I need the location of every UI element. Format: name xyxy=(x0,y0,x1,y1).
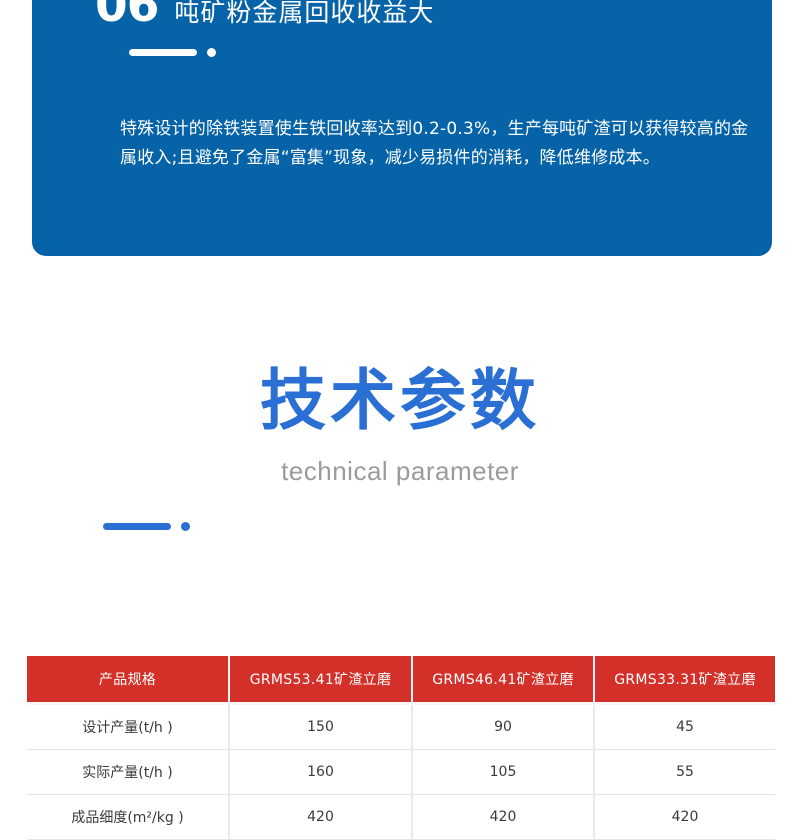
row-value: 420 xyxy=(412,795,594,840)
decoration-bar-icon xyxy=(129,49,197,56)
spec-table: 产品规格 GRMS53.41矿渣立磨 GRMS46.41矿渣立磨 GRMS33.… xyxy=(27,656,775,840)
section-heading: 技术参数 technical parameter xyxy=(0,368,800,487)
feature-divider-decoration xyxy=(129,48,216,57)
row-value: 45 xyxy=(594,704,775,750)
row-label: 设计产量(t/h ) xyxy=(27,704,229,750)
row-label: 成品细度(m²/kg ) xyxy=(27,795,229,840)
section-title-en: technical parameter xyxy=(0,456,800,487)
spec-table-body: 设计产量(t/h ) 150 90 45 实际产量(t/h ) 160 105 … xyxy=(27,704,775,840)
column-header-model-3: GRMS33.31矿渣立磨 xyxy=(594,656,775,704)
feature-number: 06 xyxy=(95,0,158,29)
row-value: 150 xyxy=(229,704,412,750)
table-row: 设计产量(t/h ) 150 90 45 xyxy=(27,704,775,750)
section-divider-decoration xyxy=(103,522,190,531)
decoration-bar-icon xyxy=(103,523,171,530)
feature-title: 吨矿粉金属回收收益大 xyxy=(174,0,434,25)
row-value: 55 xyxy=(594,750,775,795)
column-header-spec: 产品规格 xyxy=(27,656,229,704)
row-label: 实际产量(t/h ) xyxy=(27,750,229,795)
feature-card: 06 吨矿粉金属回收收益大 特殊设计的除铁装置使生铁回收率达到0.2-0.3%，… xyxy=(32,0,772,256)
row-value: 420 xyxy=(594,795,775,840)
feature-card-header: 06 吨矿粉金属回收收益大 xyxy=(95,0,434,29)
decoration-dot-icon xyxy=(181,522,190,531)
column-header-model-1: GRMS53.41矿渣立磨 xyxy=(229,656,412,704)
row-value: 420 xyxy=(229,795,412,840)
table-header-row: 产品规格 GRMS53.41矿渣立磨 GRMS46.41矿渣立磨 GRMS33.… xyxy=(27,656,775,704)
spec-table-head: 产品规格 GRMS53.41矿渣立磨 GRMS46.41矿渣立磨 GRMS33.… xyxy=(27,656,775,704)
column-header-model-2: GRMS46.41矿渣立磨 xyxy=(412,656,594,704)
section-title-cn: 技术参数 xyxy=(0,368,800,434)
feature-description: 特殊设计的除铁装置使生铁回收率达到0.2-0.3%，生产每吨矿渣可以获得较高的金… xyxy=(120,115,752,173)
row-value: 160 xyxy=(229,750,412,795)
decoration-dot-icon xyxy=(207,48,216,57)
table-row: 成品细度(m²/kg ) 420 420 420 xyxy=(27,795,775,840)
spec-table-container: 产品规格 GRMS53.41矿渣立磨 GRMS46.41矿渣立磨 GRMS33.… xyxy=(27,656,775,840)
row-value: 105 xyxy=(412,750,594,795)
table-row: 实际产量(t/h ) 160 105 55 xyxy=(27,750,775,795)
row-value: 90 xyxy=(412,704,594,750)
